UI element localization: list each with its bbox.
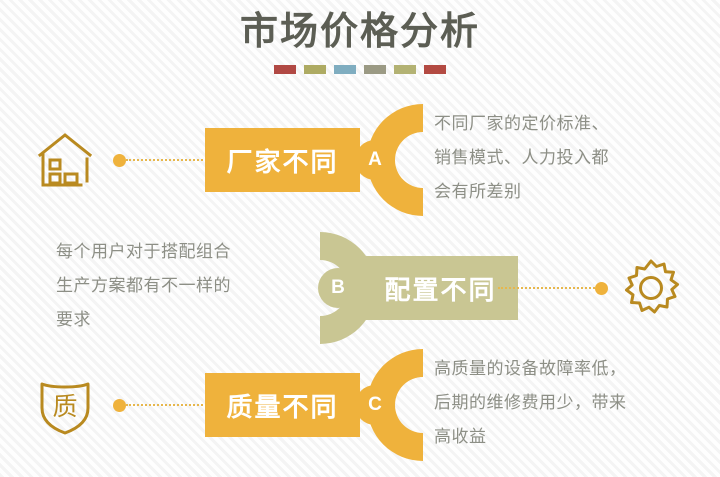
description-b-line-3: 要求	[56, 303, 306, 337]
badge-b: B	[318, 268, 358, 308]
title-dash-4	[364, 65, 386, 74]
row-a: 厂家不同 A 不同厂家的定价标准、 销售模式、人力投入都 会有所差别	[0, 100, 720, 220]
infographic-canvas: 市场价格分析	[0, 0, 720, 477]
badge-a-label: A	[368, 149, 382, 171]
title-block: 市场价格分析	[0, 8, 720, 74]
title-dash-2	[304, 65, 326, 74]
page-title: 市场价格分析	[0, 8, 720, 56]
connector-dot-a	[113, 154, 126, 167]
description-b-line-2: 生产方案都有不一样的	[56, 269, 306, 303]
title-dash-row	[0, 65, 720, 74]
badge-b-label: B	[331, 277, 345, 299]
house-icon	[34, 129, 96, 191]
connector-line-b	[498, 287, 595, 289]
description-b-line-1: 每个用户对于搭配组合	[56, 235, 306, 269]
description-a: 不同厂家的定价标准、 销售模式、人力投入都 会有所差别	[434, 107, 696, 209]
badge-a: A	[355, 140, 395, 180]
banner-b[interactable]: 配置不同	[363, 256, 518, 320]
banner-b-label: 配置不同	[384, 270, 496, 307]
connector-dot-b	[595, 282, 608, 295]
title-dash-1	[274, 65, 296, 74]
badge-c-label: C	[368, 394, 382, 416]
connector-b	[498, 281, 608, 295]
badge-c: C	[355, 385, 395, 425]
description-c-line-3: 高收益	[434, 420, 696, 454]
description-b: 每个用户对于搭配组合 生产方案都有不一样的 要求	[56, 235, 306, 337]
title-dash-6	[424, 65, 446, 74]
shield-icon-glyph: 质	[52, 393, 77, 421]
description-c-line-1: 高质量的设备故障率低，	[434, 352, 696, 386]
title-dash-3	[334, 65, 356, 74]
description-a-line-3: 会有所差别	[434, 175, 696, 209]
description-a-line-1: 不同厂家的定价标准、	[434, 107, 696, 141]
row-b: 每个用户对于搭配组合 生产方案都有不一样的 要求 B 配置不同	[0, 228, 720, 348]
connector-dot-c	[113, 399, 126, 412]
shield-icon: 质	[34, 374, 96, 436]
description-c: 高质量的设备故障率低， 后期的维修费用少，带来 高收益	[434, 352, 696, 454]
description-c-line-2: 后期的维修费用少，带来	[434, 386, 696, 420]
description-a-line-2: 销售模式、人力投入都	[434, 141, 696, 175]
title-dash-5	[394, 65, 416, 74]
gear-icon	[620, 257, 682, 319]
row-c: 质 质量不同 C 高质量的设备故障率低， 后期的维修费用少，带来 高收益	[0, 345, 720, 465]
